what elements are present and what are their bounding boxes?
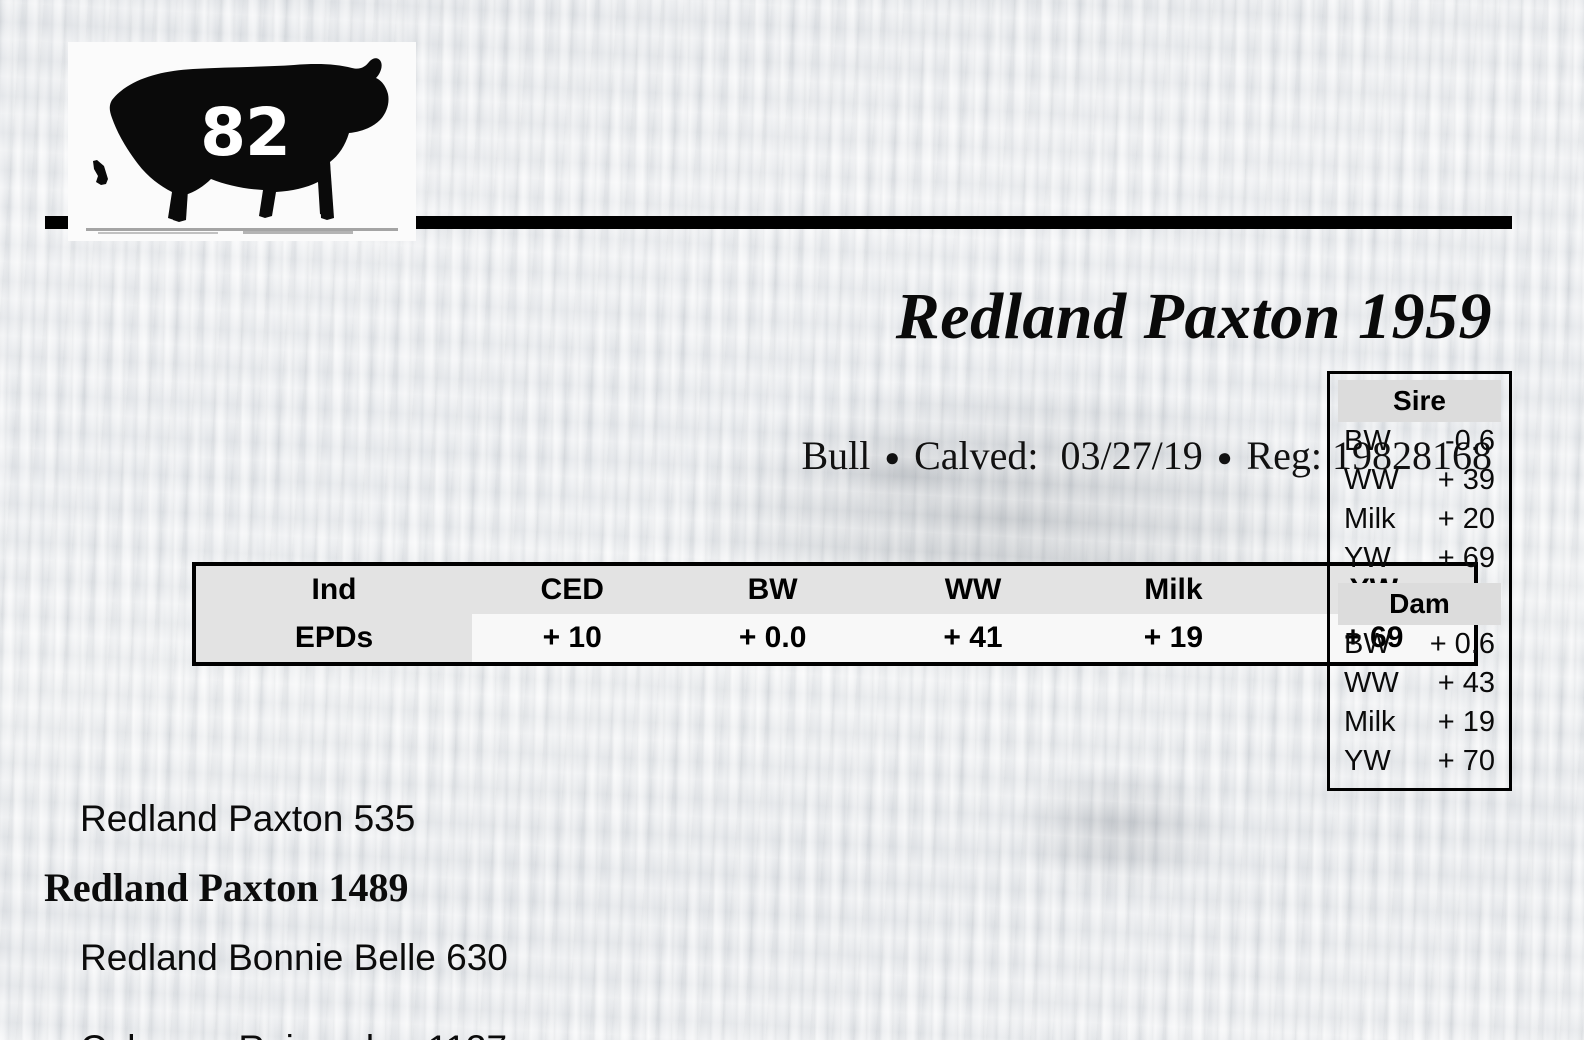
epd-header-ww: WW bbox=[873, 566, 1073, 614]
dam-row-ww: WW + 43 bbox=[1330, 664, 1509, 703]
sale-catalog-lot-page: 82 Redland Paxton 1959 Bull●Calved:03/27… bbox=[0, 0, 1584, 1040]
bull-silhouette-photo: 82 bbox=[68, 42, 416, 241]
epd-values-area: CED BW WW Milk YW + 10 + 0.0 + 41 + 19 +… bbox=[472, 566, 1474, 662]
dam-value-milk: + 19 bbox=[1438, 703, 1495, 742]
dam-value-yw: + 70 bbox=[1438, 742, 1495, 781]
sire-trait-ww: WW bbox=[1344, 461, 1399, 500]
sire-row-milk: Milk + 20 bbox=[1330, 500, 1509, 539]
epd-label-ind: Ind bbox=[196, 566, 472, 614]
sire-dam-epd-box: Sire BW -0.6 WW + 39 Milk + 20 YW + 69 D… bbox=[1327, 371, 1512, 791]
animal-sex: Bull bbox=[801, 433, 870, 478]
page-title-animal-name: Redland Paxton 1959 bbox=[660, 284, 1492, 350]
sire-row-bw: BW -0.6 bbox=[1330, 422, 1509, 461]
dam-trait-milk: Milk bbox=[1344, 703, 1396, 742]
dam-value-bw: + 0.6 bbox=[1430, 625, 1495, 664]
pedigree-sire: Redland Paxton 1489 bbox=[44, 868, 704, 908]
dam-row-yw: YW + 70 bbox=[1330, 742, 1509, 781]
epd-header-ced: CED bbox=[472, 566, 672, 614]
pedigree-sire-dam: Redland Bonnie Belle 630 bbox=[44, 939, 704, 976]
dam-section-title: Dam bbox=[1338, 583, 1501, 625]
sire-trait-milk: Milk bbox=[1344, 500, 1396, 539]
sire-value-ww: + 39 bbox=[1438, 461, 1495, 500]
dam-row-milk: Milk + 19 bbox=[1330, 703, 1509, 742]
epd-value-bw: + 0.0 bbox=[672, 614, 872, 662]
epd-value-milk: + 19 bbox=[1073, 614, 1273, 662]
sire-value-bw: -0.6 bbox=[1445, 422, 1495, 461]
sire-section-title: Sire bbox=[1338, 380, 1501, 422]
dam-row-bw: BW + 0.6 bbox=[1330, 625, 1509, 664]
dam-value-ww: + 43 bbox=[1438, 664, 1495, 703]
sire-value-yw: + 69 bbox=[1438, 539, 1495, 578]
epd-header-row: CED BW WW Milk YW bbox=[472, 566, 1474, 614]
bullet-separator-icon: ● bbox=[870, 443, 914, 472]
pedigree-sire-sire: Redland Paxton 535 bbox=[44, 800, 704, 837]
epd-value-row: + 10 + 0.0 + 41 + 19 + 69 bbox=[472, 614, 1474, 662]
calved-label: Calved: bbox=[914, 433, 1038, 478]
sire-row-ww: WW + 39 bbox=[1330, 461, 1509, 500]
pedigree-parents-column: Redland Paxton 535 Redland Paxton 1489 R… bbox=[44, 800, 704, 1040]
epd-value-ww: + 41 bbox=[873, 614, 1073, 662]
epd-value-ced: + 10 bbox=[472, 614, 672, 662]
sire-value-milk: + 20 bbox=[1438, 500, 1495, 539]
pedigree-dam-sire: Coleman Rainmaker 1137 bbox=[44, 1030, 704, 1040]
lot-number: 82 bbox=[68, 100, 416, 166]
dam-trait-bw: BW bbox=[1344, 625, 1391, 664]
sire-row-yw: YW + 69 bbox=[1330, 539, 1509, 578]
epd-header-bw: BW bbox=[672, 566, 872, 614]
reg-label: Reg: bbox=[1246, 433, 1322, 478]
dam-trait-yw: YW bbox=[1344, 742, 1391, 781]
epd-table: Ind EPDs CED BW WW Milk YW + 10 + 0.0 + … bbox=[192, 562, 1478, 666]
epd-label-epds: EPDs bbox=[196, 614, 472, 662]
bullet-separator-icon-2: ● bbox=[1203, 443, 1247, 472]
epd-header-milk: Milk bbox=[1073, 566, 1273, 614]
epd-row-label-column: Ind EPDs bbox=[196, 566, 472, 662]
calved-date: 03/27/19 bbox=[1061, 433, 1203, 478]
sire-trait-yw: YW bbox=[1344, 539, 1391, 578]
dam-trait-ww: WW bbox=[1344, 664, 1399, 703]
sire-trait-bw: BW bbox=[1344, 422, 1391, 461]
